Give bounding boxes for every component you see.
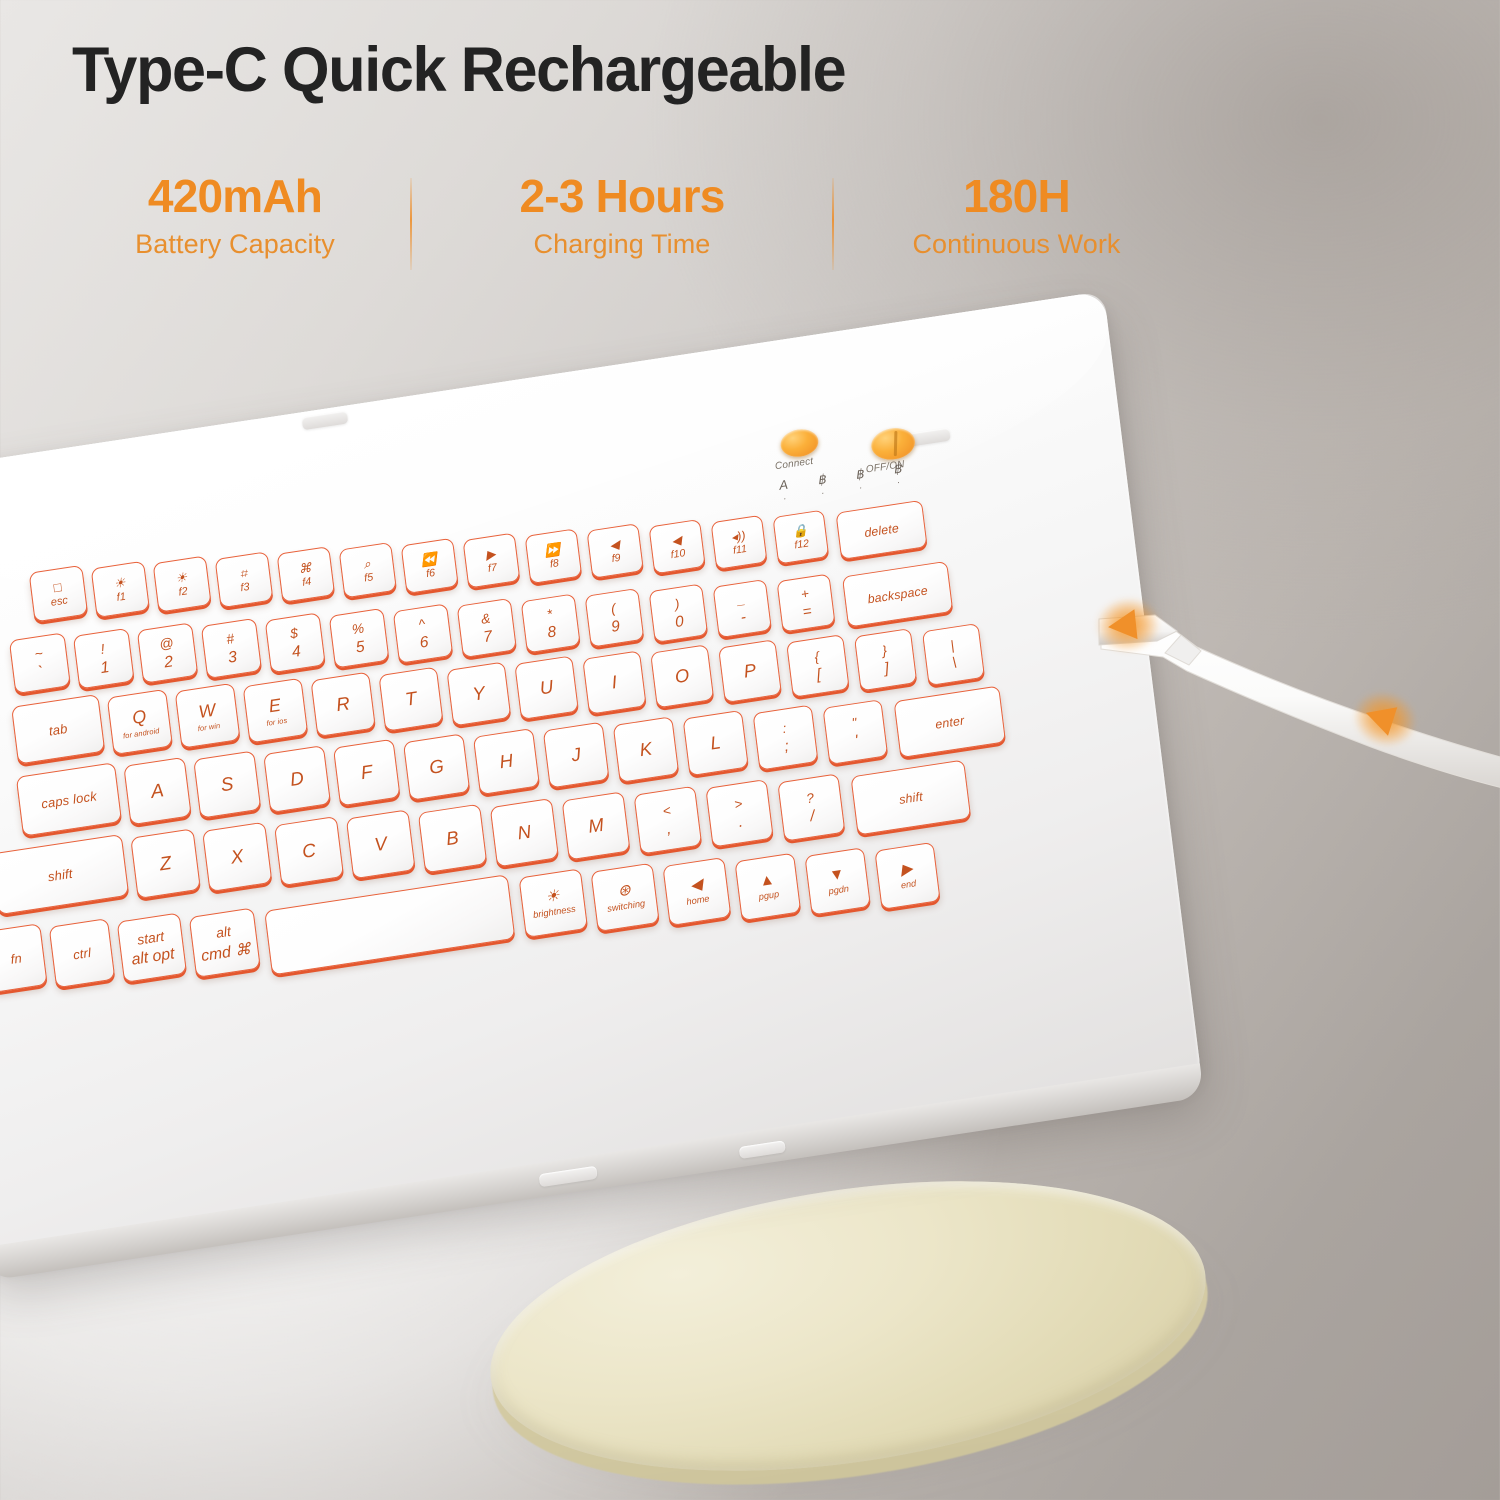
key-digit-0[interactable]: )0 — [649, 583, 709, 642]
key-label: pgup — [758, 888, 780, 902]
stat-charging-time: 2-3 Hours Charging Time — [412, 172, 832, 260]
key-label: shift — [898, 789, 923, 805]
key-shift-label: ) — [674, 595, 680, 611]
key-f11[interactable]: ◂))f11 — [711, 514, 768, 569]
key-icon: 🔒 — [792, 523, 809, 538]
key-shift-label: + — [800, 585, 810, 601]
key-label: f3 — [240, 580, 250, 593]
key-icon: ⌕ — [363, 556, 372, 570]
key-f12[interactable]: 🔒f12 — [772, 510, 829, 565]
charge-direction-arrow — [1093, 595, 1162, 655]
stat-label: Continuous Work — [912, 229, 1120, 260]
key-shift-label: { — [813, 648, 819, 664]
key-digit-1[interactable]: !1 — [73, 627, 135, 689]
key-label: delete — [864, 521, 900, 538]
key-label: backspace — [867, 583, 928, 604]
key-period[interactable]: >. — [705, 779, 773, 848]
key-sublabel: for win — [197, 721, 220, 733]
key-f7[interactable]: ▶f7 — [463, 533, 521, 589]
key-label: E — [268, 694, 282, 716]
key-r[interactable]: R — [310, 672, 375, 737]
key-label: f8 — [549, 557, 559, 570]
key-label: R — [335, 694, 351, 715]
key-shift-label: " — [851, 714, 858, 730]
stat-battery-capacity: 420mAh Battery Capacity — [60, 172, 410, 260]
key-k[interactable]: K — [613, 716, 680, 783]
key-digit-9[interactable]: (9 — [585, 588, 645, 648]
key-pgup[interactable]: ▲pgup — [734, 852, 801, 921]
key-b[interactable]: B — [418, 804, 488, 874]
key-shift-label: * — [546, 605, 553, 621]
key-label: J — [570, 745, 582, 765]
key-icon: ◀ — [689, 877, 703, 894]
key-tab[interactable]: tab — [11, 694, 105, 765]
key-slash[interactable]: ?/ — [777, 773, 845, 841]
key-end[interactable]: ▶end — [874, 842, 940, 910]
key-shift-label: ! — [100, 640, 106, 656]
key-backspace[interactable]: backspace — [842, 561, 953, 628]
key-c[interactable]: C — [274, 816, 344, 886]
key-label: esc — [50, 594, 68, 608]
key-icon: ▲ — [758, 871, 775, 889]
key-x[interactable]: X — [202, 822, 272, 893]
key-label: T — [404, 689, 418, 709]
key-label: 4 — [291, 643, 302, 662]
key-digit-2[interactable]: @2 — [137, 622, 199, 683]
key-label: f11 — [732, 542, 747, 555]
key-label: ' — [854, 732, 859, 750]
key-icon: ▼ — [828, 866, 845, 884]
key-label: O — [674, 667, 691, 687]
key-label: M — [587, 816, 605, 837]
key-label: 7 — [483, 628, 494, 647]
key-label: L — [709, 734, 722, 754]
key-label: F — [360, 763, 374, 783]
key-label: end — [900, 878, 916, 891]
key-label: ` — [37, 663, 44, 682]
key-esc[interactable]: □esc — [29, 565, 89, 623]
key-f2[interactable]: ☀f2 — [153, 556, 212, 613]
key-label: B — [445, 828, 460, 848]
key-z[interactable]: Z — [130, 828, 201, 899]
key-m[interactable]: M — [562, 792, 631, 861]
key-label: H — [499, 751, 515, 771]
key-f4[interactable]: ⌘f4 — [277, 546, 336, 603]
key-label: - — [740, 608, 747, 626]
key-label: caps lock — [40, 789, 97, 810]
key-equals[interactable]: += — [777, 574, 836, 633]
key-tilde[interactable]: ~` — [9, 632, 71, 694]
key-label: brightness — [532, 903, 576, 920]
key-icon: ⏪ — [420, 551, 437, 566]
key-l[interactable]: L — [683, 710, 749, 776]
key-t[interactable]: T — [378, 667, 443, 732]
key-d[interactable]: D — [263, 745, 331, 813]
product-stage: Connect OFF/ON A. ฿. ฿. ฿. □esc☀f1☀f2⌗f3… — [0, 340, 1500, 1500]
key-label: f9 — [611, 552, 621, 565]
key-icon: □ — [53, 580, 62, 594]
key-shift-label: ~ — [34, 644, 44, 661]
key-icon: ◀ — [671, 533, 682, 547]
key-f10[interactable]: ◀f10 — [649, 519, 706, 574]
stat-continuous-work: 180H Continuous Work — [834, 172, 1199, 260]
key-label: . — [738, 814, 744, 832]
key-label: ; — [783, 738, 789, 756]
key-label: home — [686, 894, 710, 908]
key-label: f4 — [302, 576, 312, 589]
key-shift-label: % — [351, 619, 365, 636]
key-label: f5 — [363, 571, 373, 584]
key-enter[interactable]: enter — [894, 686, 1006, 759]
key-shift-label: $ — [289, 625, 299, 642]
key-caps-lock[interactable]: caps lock — [16, 762, 122, 837]
key-o[interactable]: O — [650, 645, 714, 709]
key-icon: ◂)) — [730, 528, 746, 543]
key-label: W — [197, 699, 216, 722]
key-icon: ☀ — [113, 575, 126, 590]
key-label: 2 — [163, 653, 174, 672]
key-shift-label: : — [781, 720, 787, 736]
key-label: f1 — [116, 590, 127, 603]
keyboard: Connect OFF/ON A. ฿. ฿. ฿. □esc☀f1☀f2⌗f3… — [0, 291, 1203, 1269]
key-fn[interactable]: fn — [0, 923, 48, 993]
stat-value: 180H — [963, 172, 1070, 222]
platform-top — [471, 1138, 1225, 1500]
key-label: V — [373, 834, 388, 854]
key-f9[interactable]: ◀f9 — [587, 524, 644, 580]
key-digit-5[interactable]: %5 — [329, 608, 390, 669]
key-icon: ⏩ — [544, 542, 561, 557]
key-start-altopt[interactable]: startalt opt — [117, 913, 187, 984]
key-comma[interactable]: <, — [633, 785, 702, 854]
stat-label: Battery Capacity — [135, 229, 335, 260]
key-f6[interactable]: ⏪f6 — [401, 537, 459, 593]
key-label: enter — [935, 714, 965, 731]
key-n[interactable]: N — [490, 798, 559, 867]
key-f[interactable]: F — [333, 739, 401, 807]
key-label: 8 — [546, 623, 557, 642]
key-label: C — [301, 841, 317, 862]
key-label: ctrl — [72, 946, 91, 962]
key-shift-label: < — [662, 802, 672, 819]
key-minus[interactable]: _- — [713, 579, 772, 638]
key-g[interactable]: G — [403, 733, 470, 800]
key-label: f12 — [794, 538, 810, 552]
key-switching[interactable]: ⊛switching — [590, 863, 659, 932]
key-f8[interactable]: ⏩f8 — [525, 528, 583, 584]
key-shift-label: > — [733, 795, 743, 811]
key-label: P — [743, 661, 757, 681]
key-shift-label: | — [950, 637, 955, 653]
key-label: 3 — [227, 648, 238, 667]
key-icon: ▶ — [485, 547, 496, 561]
key-shift-label: ( — [610, 600, 616, 616]
page-title: Type-C Quick Rechargeable — [72, 34, 845, 106]
key-label: 0 — [674, 613, 685, 631]
key-delete[interactable]: delete — [835, 500, 927, 560]
key-shift-label: & — [480, 610, 491, 627]
key-bracket-right[interactable]: }] — [854, 628, 917, 691]
key-label: shift — [47, 866, 73, 883]
key-label: , — [666, 820, 672, 838]
key-icon: ☀ — [545, 888, 561, 906]
key-label: alt opt — [131, 945, 176, 969]
key-shift-label: _ — [736, 590, 745, 606]
key-shift-label: @ — [158, 634, 174, 652]
key-w[interactable]: Wfor win — [175, 683, 241, 749]
cable-strain-relief — [1165, 635, 1201, 665]
key-icon: ⊛ — [617, 883, 632, 900]
key-label: f7 — [487, 562, 497, 575]
key-a[interactable]: A — [123, 756, 191, 825]
key-shift-label: # — [225, 629, 235, 646]
key-label: f6 — [425, 566, 435, 579]
key-label: N — [516, 822, 532, 842]
key-label: G — [428, 757, 445, 778]
charge-direction-arrow — [1346, 683, 1424, 754]
key-j[interactable]: J — [543, 722, 610, 789]
key-icon: ◀ — [609, 538, 620, 552]
key-s[interactable]: S — [193, 751, 261, 819]
key-p[interactable]: P — [718, 639, 782, 703]
key-f5[interactable]: ⌕f5 — [339, 542, 397, 599]
key-f1[interactable]: ☀f1 — [91, 560, 150, 617]
key-shift-label: start — [136, 928, 165, 948]
key-label: = — [802, 603, 813, 621]
key-shift-right[interactable]: shift — [850, 759, 971, 835]
key-label: 5 — [355, 638, 366, 657]
key-shift-label: ? — [805, 789, 814, 805]
key-label: U — [539, 678, 555, 698]
key-pgdn[interactable]: ▼pgdn — [804, 847, 870, 915]
key-u[interactable]: U — [514, 656, 579, 721]
key-label: X — [230, 847, 245, 868]
key-semicolon[interactable]: :; — [753, 705, 819, 771]
key-digit-3[interactable]: #3 — [201, 618, 262, 679]
key-q[interactable]: Qfor android — [107, 688, 173, 754]
key-label: 1 — [99, 658, 110, 677]
key-sublabel: for android — [122, 725, 160, 739]
stat-value: 420mAh — [148, 172, 322, 222]
key-digit-4[interactable]: $4 — [265, 613, 326, 674]
stat-value: 2-3 Hours — [520, 172, 725, 222]
key-label: f10 — [670, 547, 686, 561]
key-label: switching — [607, 898, 646, 914]
key-y[interactable]: Y — [446, 661, 511, 726]
key-label: A — [150, 780, 165, 801]
key-i[interactable]: I — [582, 650, 646, 714]
key-space[interactable] — [264, 874, 515, 975]
key-digit-8[interactable]: *8 — [521, 593, 581, 653]
key-icon: ⌗ — [239, 566, 248, 580]
key-shift-label: ^ — [418, 615, 426, 631]
key-label: ] — [884, 660, 890, 678]
key-backslash[interactable]: |\ — [922, 623, 985, 686]
key-shift-label: alt — [215, 922, 231, 940]
key-v[interactable]: V — [346, 810, 416, 880]
key-label: [ — [816, 666, 822, 684]
key-label: \ — [951, 654, 957, 672]
key-shift-left[interactable]: shift — [0, 834, 129, 915]
arrow-triangle — [1107, 609, 1138, 642]
key-label: 6 — [419, 633, 430, 652]
key-icon: ⌘ — [298, 561, 312, 576]
key-icon: ☀ — [175, 570, 188, 585]
key-label: fn — [10, 951, 23, 966]
key-shift-label: } — [881, 642, 887, 658]
stat-label: Charging Time — [534, 229, 711, 260]
key-label: / — [809, 808, 815, 826]
display-platform — [471, 1138, 1225, 1500]
key-quote[interactable]: "' — [822, 699, 888, 765]
key-sublabel: for ios — [266, 715, 288, 727]
key-label: D — [289, 769, 305, 790]
key-h[interactable]: H — [473, 728, 540, 795]
key-label: 9 — [610, 618, 621, 637]
key-bracket-left[interactable]: {[ — [786, 634, 850, 698]
key-brightness[interactable]: ☀brightness — [519, 868, 589, 938]
stats-row: 420mAh Battery Capacity 2-3 Hours Chargi… — [60, 172, 1199, 270]
key-label: S — [220, 774, 235, 795]
key-f3[interactable]: ⌗f3 — [215, 551, 274, 608]
key-label: cmd ⌘ — [200, 938, 252, 965]
key-ctrl[interactable]: ctrl — [49, 918, 116, 988]
key-label: K — [639, 739, 654, 759]
key-icon: ▶ — [900, 861, 914, 878]
key-label: I — [611, 673, 619, 692]
key-digit-7[interactable]: &7 — [457, 598, 517, 658]
key-alt-cmd[interactable]: altcmd ⌘ — [189, 907, 261, 978]
key-digit-6[interactable]: ^6 — [393, 603, 454, 663]
key-home[interactable]: ◀home — [662, 857, 731, 926]
key-label: Y — [471, 683, 486, 703]
key-label: Q — [131, 705, 147, 728]
key-label: pgdn — [828, 883, 849, 897]
key-label: Z — [159, 853, 173, 874]
key-label: f2 — [178, 585, 188, 598]
key-label: tab — [48, 721, 68, 737]
key-e[interactable]: Efor ios — [243, 677, 309, 743]
